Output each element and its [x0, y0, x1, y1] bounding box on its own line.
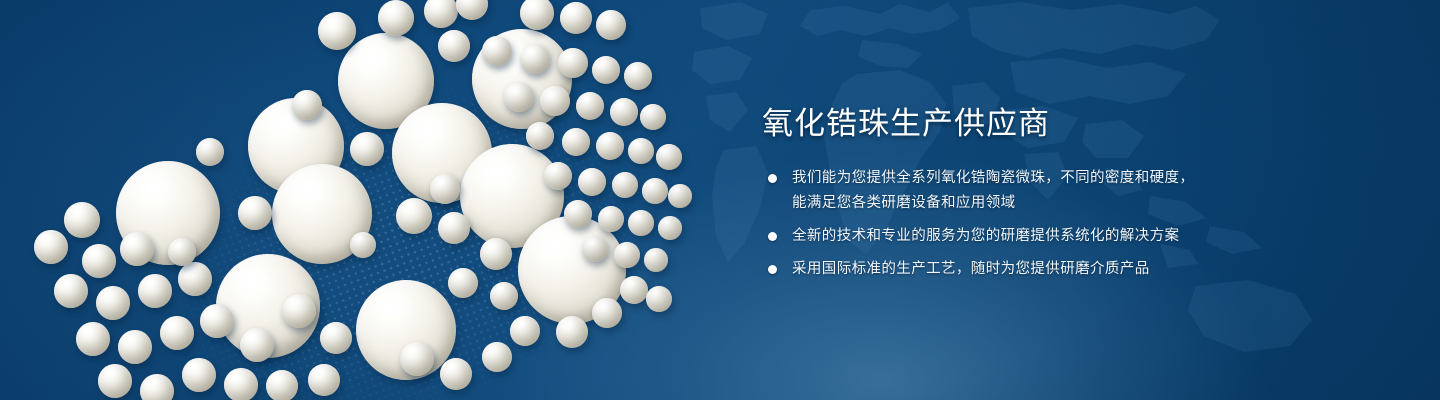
background-vignette [0, 0, 1440, 400]
ceramic-bead [640, 104, 666, 130]
ceramic-bead [596, 10, 626, 40]
ceramic-bead [54, 274, 88, 308]
ceramic-bead [196, 138, 224, 166]
ceramic-bead [472, 29, 572, 129]
banner-copy: 氧化锆珠生产供应商 我们能为您提供全系列氧化锆陶瓷微珠，不同的密度和硬度， 能满… [762, 104, 1222, 290]
ceramic-bead [34, 230, 68, 264]
ceramic-bead [576, 92, 604, 120]
ceramic-bead [628, 138, 654, 164]
ceramic-bead [96, 286, 130, 320]
ceramic-bead [610, 98, 638, 126]
filled-circle-bullet-icon [768, 232, 777, 241]
ceramic-bead [76, 322, 110, 356]
list-item: 全新的技术和专业的服务为您的研磨提供系统化的解决方案 [762, 224, 1222, 249]
ceramic-bead [578, 168, 606, 196]
ceramic-bead [392, 103, 492, 203]
ceramic-bead [482, 342, 512, 372]
ceramic-bead [620, 276, 648, 304]
ceramic-bead [558, 48, 588, 78]
ceramic-bead [644, 248, 668, 272]
bead-cluster [20, 0, 760, 400]
ceramic-bead [64, 202, 100, 238]
ceramic-bead [582, 236, 608, 262]
zirconia-beads-image [20, 0, 760, 400]
ceramic-bead [430, 174, 460, 204]
ceramic-bead [82, 244, 116, 278]
ceramic-bead [182, 358, 216, 392]
list-item-line2: 能满足您各类研磨设备和应用领域 [792, 191, 1222, 216]
list-item-line1: 采用国际标准的生产工艺，随时为您提供研磨介质产品 [792, 261, 1150, 277]
ceramic-bead [338, 33, 434, 129]
ceramic-bead [438, 30, 470, 62]
ceramic-bead [564, 200, 592, 228]
ceramic-bead [562, 128, 590, 156]
ceramic-bead [224, 368, 258, 400]
ceramic-bead [116, 161, 220, 265]
list-item-line1: 全新的技术和专业的服务为您的研磨提供系统化的解决方案 [792, 228, 1179, 244]
ceramic-bead [520, 0, 554, 30]
ceramic-bead [308, 364, 340, 396]
ceramic-bead [460, 144, 564, 248]
ceramic-bead [448, 268, 478, 298]
ceramic-bead [656, 144, 682, 170]
ceramic-bead [544, 162, 572, 190]
feature-list: 我们能为您提供全系列氧化锆陶瓷微珠，不同的密度和硬度， 能满足您各类研磨设备和应… [762, 166, 1222, 282]
ceramic-bead [614, 242, 640, 268]
ceramic-bead [526, 122, 554, 150]
ceramic-bead [438, 212, 470, 244]
ceramic-bead [456, 0, 488, 20]
ceramic-bead [596, 132, 624, 160]
ceramic-bead [424, 0, 458, 28]
ceramic-bead [598, 206, 624, 232]
ceramic-bead [318, 12, 356, 50]
ceramic-bead [490, 282, 518, 310]
ceramic-bead [266, 370, 298, 400]
ceramic-bead [168, 238, 196, 266]
ceramic-bead [378, 0, 414, 36]
ceramic-bead [140, 374, 174, 400]
ceramic-bead [98, 364, 132, 398]
ceramic-bead [592, 56, 620, 84]
ceramic-bead [138, 274, 172, 308]
ceramic-bead [540, 86, 570, 116]
ceramic-bead [646, 286, 672, 312]
ceramic-bead [518, 216, 626, 324]
ceramic-bead [282, 294, 316, 328]
world-map-icon [0, 0, 1440, 400]
page-title: 氧化锆珠生产供应商 [762, 104, 1222, 144]
ceramic-bead [118, 330, 152, 364]
ceramic-bead [504, 82, 534, 112]
ceramic-bead [238, 196, 272, 230]
ceramic-bead [248, 98, 344, 194]
ceramic-bead [612, 172, 638, 198]
ceramic-bead [178, 262, 212, 296]
ceramic-bead [320, 322, 352, 354]
ceramic-bead [200, 304, 234, 338]
ceramic-bead [160, 316, 194, 350]
list-item-line1: 我们能为您提供全系列氧化锆陶瓷微珠，不同的密度和硬度， [792, 170, 1194, 186]
ceramic-bead [216, 254, 320, 358]
filled-circle-bullet-icon [768, 265, 777, 274]
ceramic-bead [482, 36, 512, 66]
ceramic-bead [658, 216, 682, 240]
ceramic-bead [556, 316, 588, 348]
ceramic-bead [668, 184, 692, 208]
ceramic-bead [400, 342, 434, 376]
ceramic-bead [240, 328, 274, 362]
ceramic-bead [592, 298, 622, 328]
ceramic-bead [396, 198, 432, 234]
ceramic-bead [624, 62, 652, 90]
promo-banner: 氧化锆珠生产供应商 我们能为您提供全系列氧化锆陶瓷微珠，不同的密度和硬度， 能满… [0, 0, 1440, 400]
halftone-texture [65, 0, 755, 400]
ceramic-bead [120, 232, 154, 266]
ceramic-bead [560, 2, 592, 34]
ceramic-bead [628, 210, 654, 236]
ceramic-bead [350, 132, 384, 166]
ceramic-bead [272, 164, 372, 264]
list-item: 采用国际标准的生产工艺，随时为您提供研磨介质产品 [762, 257, 1222, 282]
ceramic-bead [520, 44, 550, 74]
list-item: 我们能为您提供全系列氧化锆陶瓷微珠，不同的密度和硬度， 能满足您各类研磨设备和应… [762, 166, 1222, 216]
ceramic-bead [510, 316, 540, 346]
filled-circle-bullet-icon [768, 174, 777, 183]
ceramic-bead [642, 178, 668, 204]
ceramic-bead [292, 90, 322, 120]
ceramic-bead [356, 280, 456, 380]
ceramic-bead [440, 358, 472, 390]
ceramic-bead [480, 238, 512, 270]
ceramic-bead [350, 232, 376, 258]
